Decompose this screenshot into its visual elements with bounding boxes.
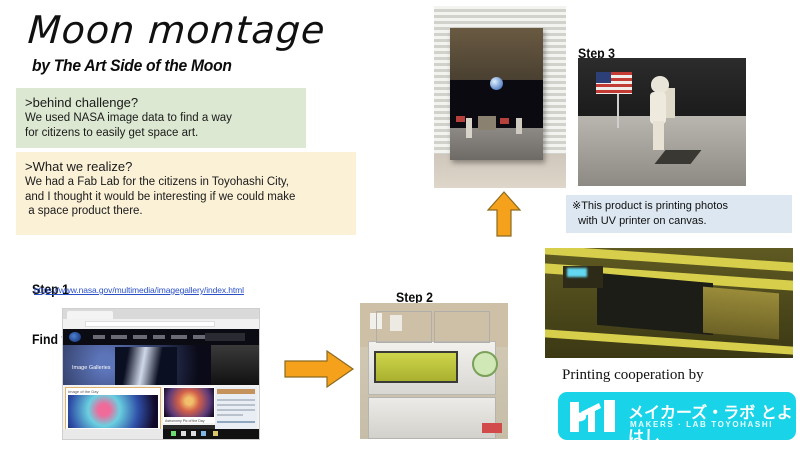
uv-printer-photo	[545, 248, 793, 358]
makers-lab-mark-icon	[568, 398, 620, 434]
callout-behind-challenge: >behind challenge? We used NASA image da…	[16, 88, 306, 148]
nasa-search-box	[205, 333, 245, 341]
flag-detail	[456, 116, 465, 122]
news-line	[217, 421, 255, 423]
us-flag-icon	[596, 72, 632, 94]
card-thumbnail	[164, 388, 214, 417]
flag-detail	[500, 118, 509, 124]
earth-globe	[490, 77, 503, 90]
hero-side-image	[211, 345, 259, 385]
news-line	[217, 414, 243, 416]
print-bed	[597, 273, 713, 335]
lunar-module	[478, 116, 496, 130]
flag-canton	[596, 72, 611, 83]
astronaut-helmet	[651, 76, 669, 93]
canvas-print-photo	[434, 6, 566, 188]
image-of-the-day-card: Image of the Day	[65, 387, 161, 431]
makers-lab-toyohashi-logo: メイカーズ・ラボ とよはし MAKERS · LAB TOYOHASHI	[558, 392, 796, 440]
taskbar-icon	[213, 431, 218, 436]
arrow-right-icon	[283, 348, 355, 390]
astronaut-figure	[466, 118, 472, 138]
uv-led-light	[567, 268, 587, 277]
canvas-sky	[450, 28, 543, 80]
callout-heading: >What we realize?	[25, 158, 348, 175]
page-subtitle: by The Art Side of the Moon	[32, 56, 232, 76]
taskbar-icon	[201, 431, 206, 436]
callout-heading: >behind challenge?	[25, 94, 298, 111]
nav-item	[133, 335, 147, 339]
news-card	[215, 387, 257, 431]
card-thumbnail	[68, 395, 158, 428]
browser-url-field	[85, 321, 215, 327]
browser-tab	[67, 311, 113, 319]
slide-root: Moon montage by The Art Side of the Moon…	[0, 0, 800, 450]
arrow-up-icon	[487, 190, 521, 238]
printed-canvas	[450, 28, 543, 160]
news-line	[217, 399, 255, 401]
machine-sticker	[482, 423, 502, 433]
astronaut-legs	[653, 121, 664, 150]
uv-printer-note: ※This product is printing photos with UV…	[566, 195, 792, 233]
page-title: Moon montage	[26, 8, 327, 52]
machine-cabinet	[368, 397, 496, 439]
note-line: ※This product is printing photos	[572, 199, 786, 214]
callout-line: a space product there.	[25, 204, 348, 219]
nasa-logo-icon	[69, 332, 81, 342]
astronaut-suit	[650, 92, 666, 124]
taskbar-icon	[191, 431, 196, 436]
callout-what-we-realize: >What we realize? We had a Fab Lab for t…	[16, 152, 356, 235]
nasa-gallery-link[interactable]: https://www.nasa.gov/multimedia/imagegal…	[34, 285, 244, 295]
machine-control-panel	[472, 351, 498, 377]
taskbar-icon	[181, 431, 186, 436]
machine-lid-window	[374, 351, 458, 383]
logo-text-en: MAKERS · LAB TOYOHASHI	[630, 420, 773, 429]
astronaut-figure	[516, 118, 522, 134]
cabinet-door	[434, 311, 490, 343]
news-line	[217, 409, 255, 411]
note-line: with UV printer on canvas.	[572, 214, 786, 229]
news-card-title	[217, 389, 255, 394]
callout-line: We used NASA image data to find a way	[25, 111, 298, 126]
nav-item	[93, 335, 105, 339]
callout-line: and I thought it would be interesting if…	[25, 190, 348, 205]
laser-cutter-photo	[360, 303, 508, 439]
cabinet-door	[376, 311, 432, 343]
taskbar-icon	[171, 431, 176, 436]
hero-image	[115, 347, 177, 385]
card-caption: Astronomy Pic of the Day	[165, 419, 205, 423]
apollo-astronaut-photo	[578, 58, 746, 186]
news-line	[217, 404, 255, 406]
hero-caption: Image Galleries	[72, 365, 111, 371]
astronomy-pic-card: Astronomy Pic of the Day	[163, 387, 215, 423]
callout-line: We had a Fab Lab for the citizens in Toy…	[25, 175, 348, 190]
canvas-on-bed	[703, 287, 779, 340]
nav-item	[153, 335, 165, 339]
card-caption: Image of the Day	[68, 389, 98, 394]
lunar-ground	[450, 128, 543, 160]
astronaut-figure	[648, 76, 674, 150]
nav-item	[111, 335, 127, 339]
callout-line: for citizens to easily get space art.	[25, 126, 298, 141]
taskbar-left	[63, 429, 163, 439]
nav-item	[171, 335, 187, 339]
printing-cooperation-label: Printing cooperation by	[562, 367, 704, 384]
nasa-gallery-browser-photo: Image Galleries Image of the Day Astrono…	[62, 308, 260, 440]
nav-item	[193, 335, 205, 339]
